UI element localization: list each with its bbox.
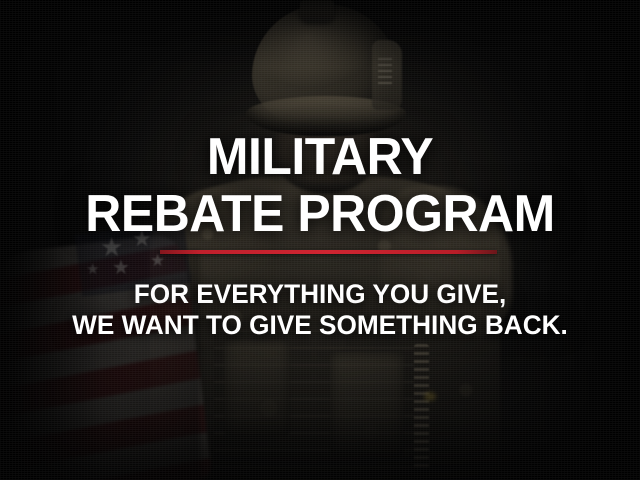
headline-line-1: MILITARY (13, 131, 627, 183)
military-rebate-banner: MILITARY REBATE PROGRAM FOR EVERYTHING Y… (0, 0, 640, 480)
subhead-line-2: WE WANT TO GIVE SOMETHING BACK. (10, 310, 631, 340)
banner-copy: MILITARY REBATE PROGRAM FOR EVERYTHING Y… (0, 0, 640, 480)
subhead-line-1: FOR EVERYTHING YOU GIVE, (10, 279, 631, 309)
red-divider-rule (160, 250, 497, 254)
headline-line-2: REBATE PROGRAM (13, 188, 627, 240)
